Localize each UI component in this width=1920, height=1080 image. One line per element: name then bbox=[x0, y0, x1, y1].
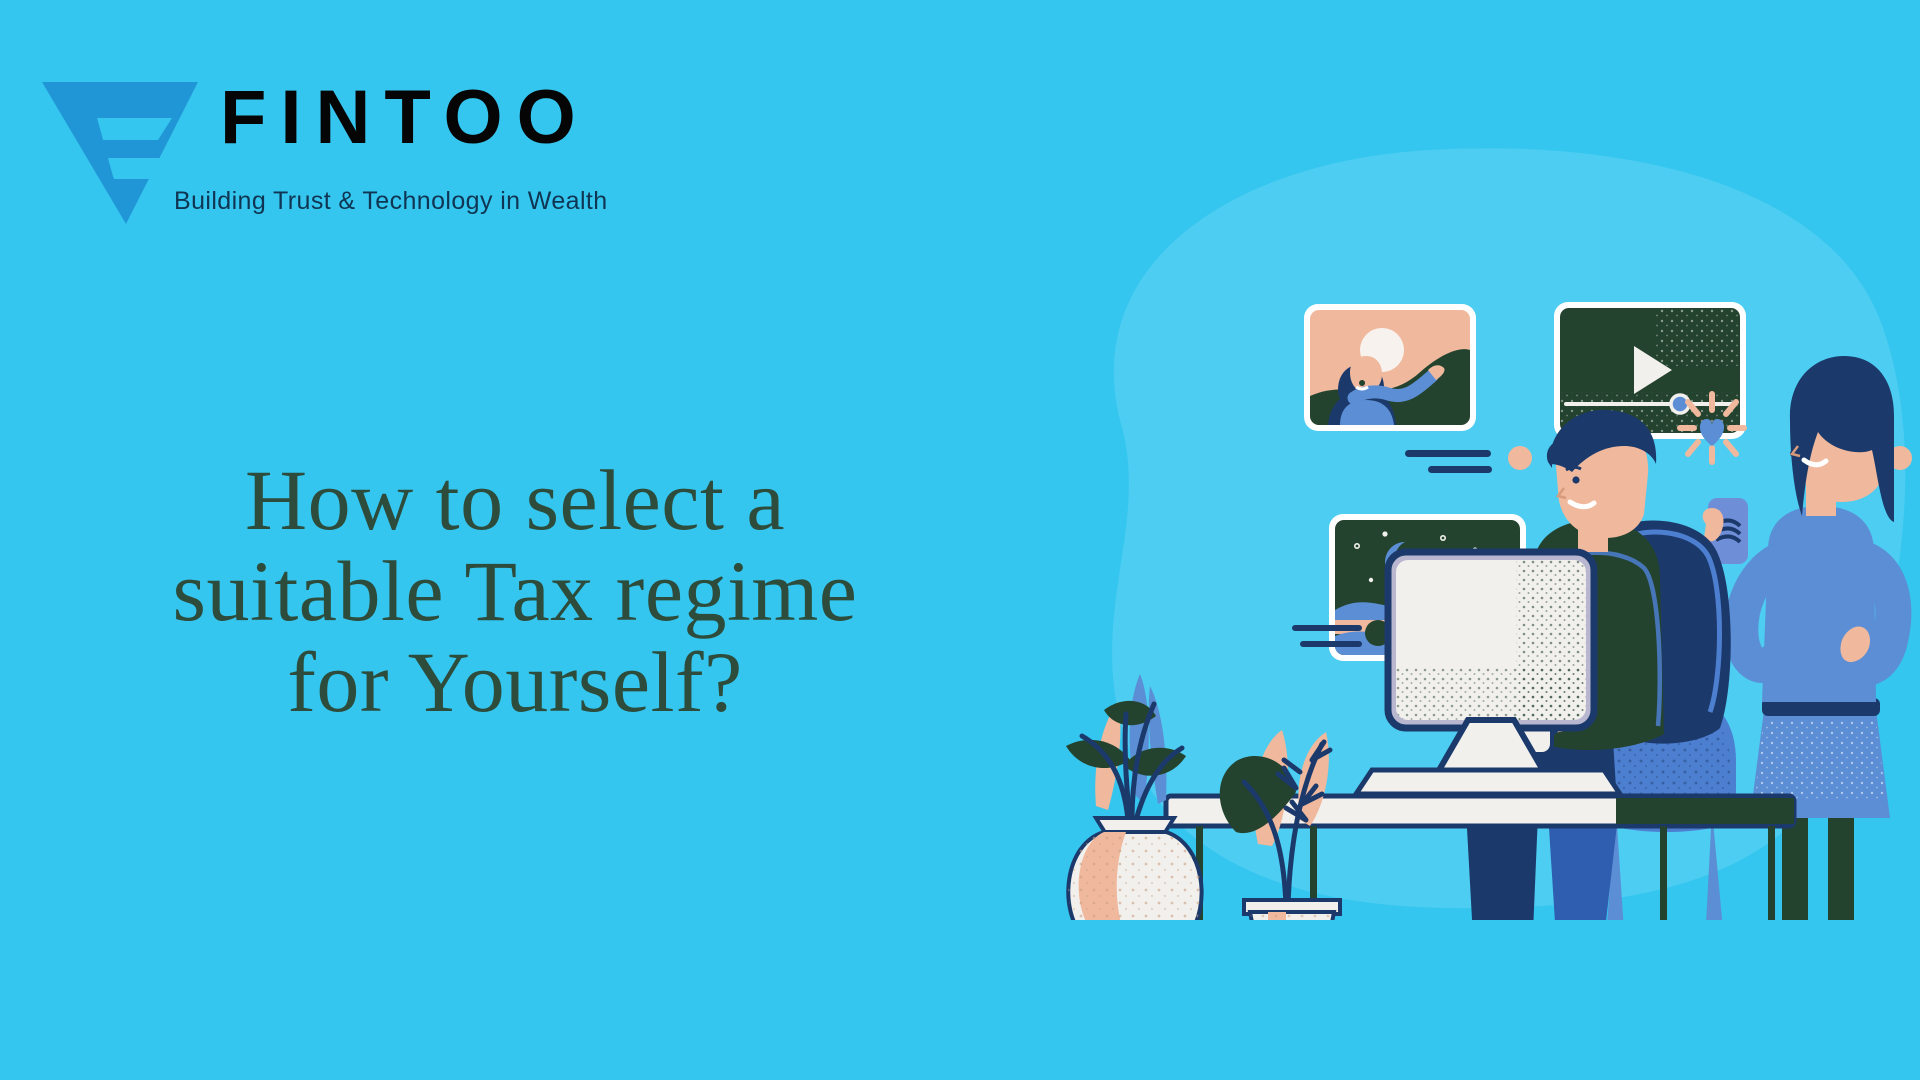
headline-line-3: for Yourself? bbox=[50, 637, 980, 728]
keyboard bbox=[1356, 770, 1620, 794]
heart-reaction-icon bbox=[1680, 394, 1744, 462]
headline-line-1: How to select a bbox=[50, 455, 980, 546]
poster-canvas: FINTOO Building Trust & Technology in We… bbox=[0, 0, 1920, 1080]
brand-logo[interactable]: FINTOO Building Trust & Technology in We… bbox=[30, 70, 650, 230]
photo-card-sunset bbox=[1304, 304, 1476, 431]
headline-line-2: suitable Tax regime bbox=[50, 546, 980, 637]
remote-work-illustration bbox=[1000, 120, 1920, 920]
brand-tagline: Building Trust & Technology in Wealth bbox=[174, 187, 608, 216]
page-title: How to select a suitable Tax regime for … bbox=[50, 455, 980, 728]
brand-wordmark: FINTOO bbox=[220, 80, 590, 156]
